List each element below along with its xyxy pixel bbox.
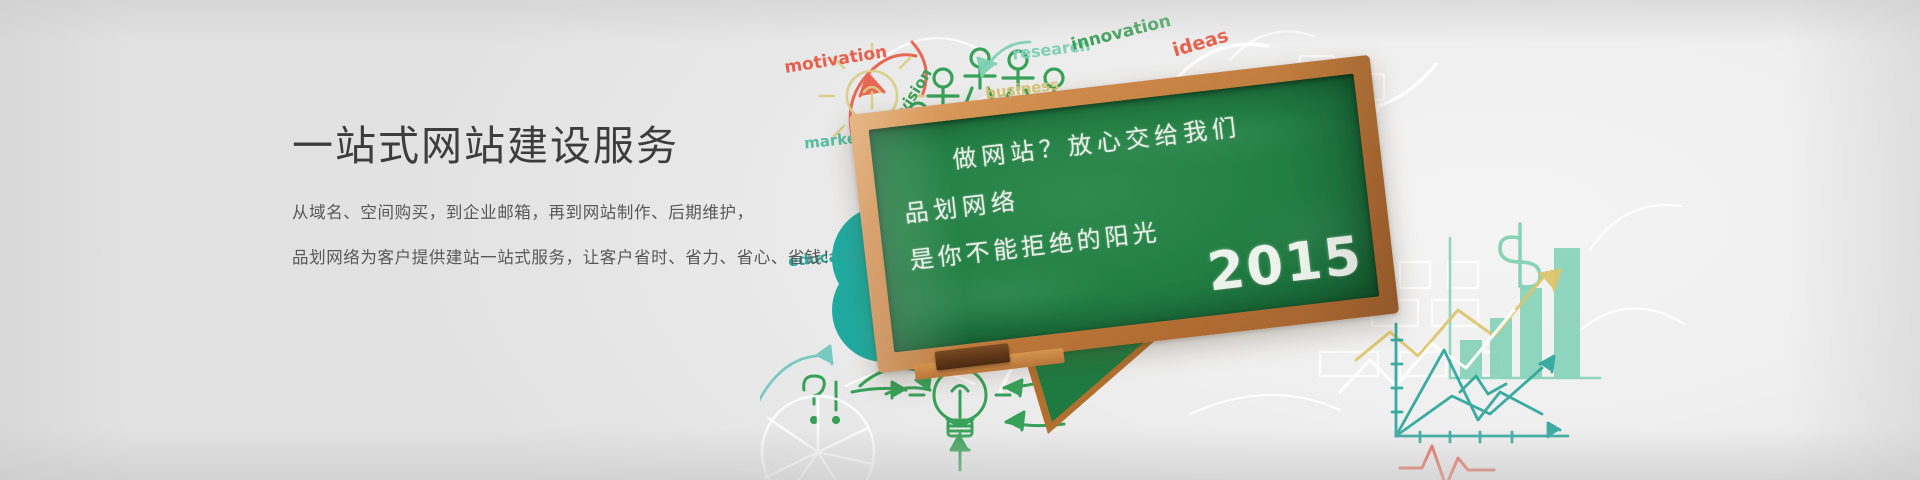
- hero-subtitle-line-2: 品划网络为客户提供建站一站式服务，让客户省时、省力、省心、省钱！: [292, 250, 839, 267]
- hero-banner: 一站式网站建设服务 从域名、空间购买，到企业邮箱，再到网站制作、后期维护， 品划…: [0, 0, 1920, 480]
- hero-copy-block: 一站式网站建设服务 从域名、空间购买，到企业邮箱，再到网站制作、后期维护， 品划…: [292, 126, 839, 266]
- chalkboard-surface: 做网站？放心交给我们 品划网络 是你不能拒绝的阳光 2015: [869, 74, 1380, 353]
- hero-subtitle-line-1: 从域名、空间购买，到企业邮箱，再到网站制作、后期维护，: [292, 205, 839, 222]
- page-title: 一站式网站建设服务: [292, 126, 839, 167]
